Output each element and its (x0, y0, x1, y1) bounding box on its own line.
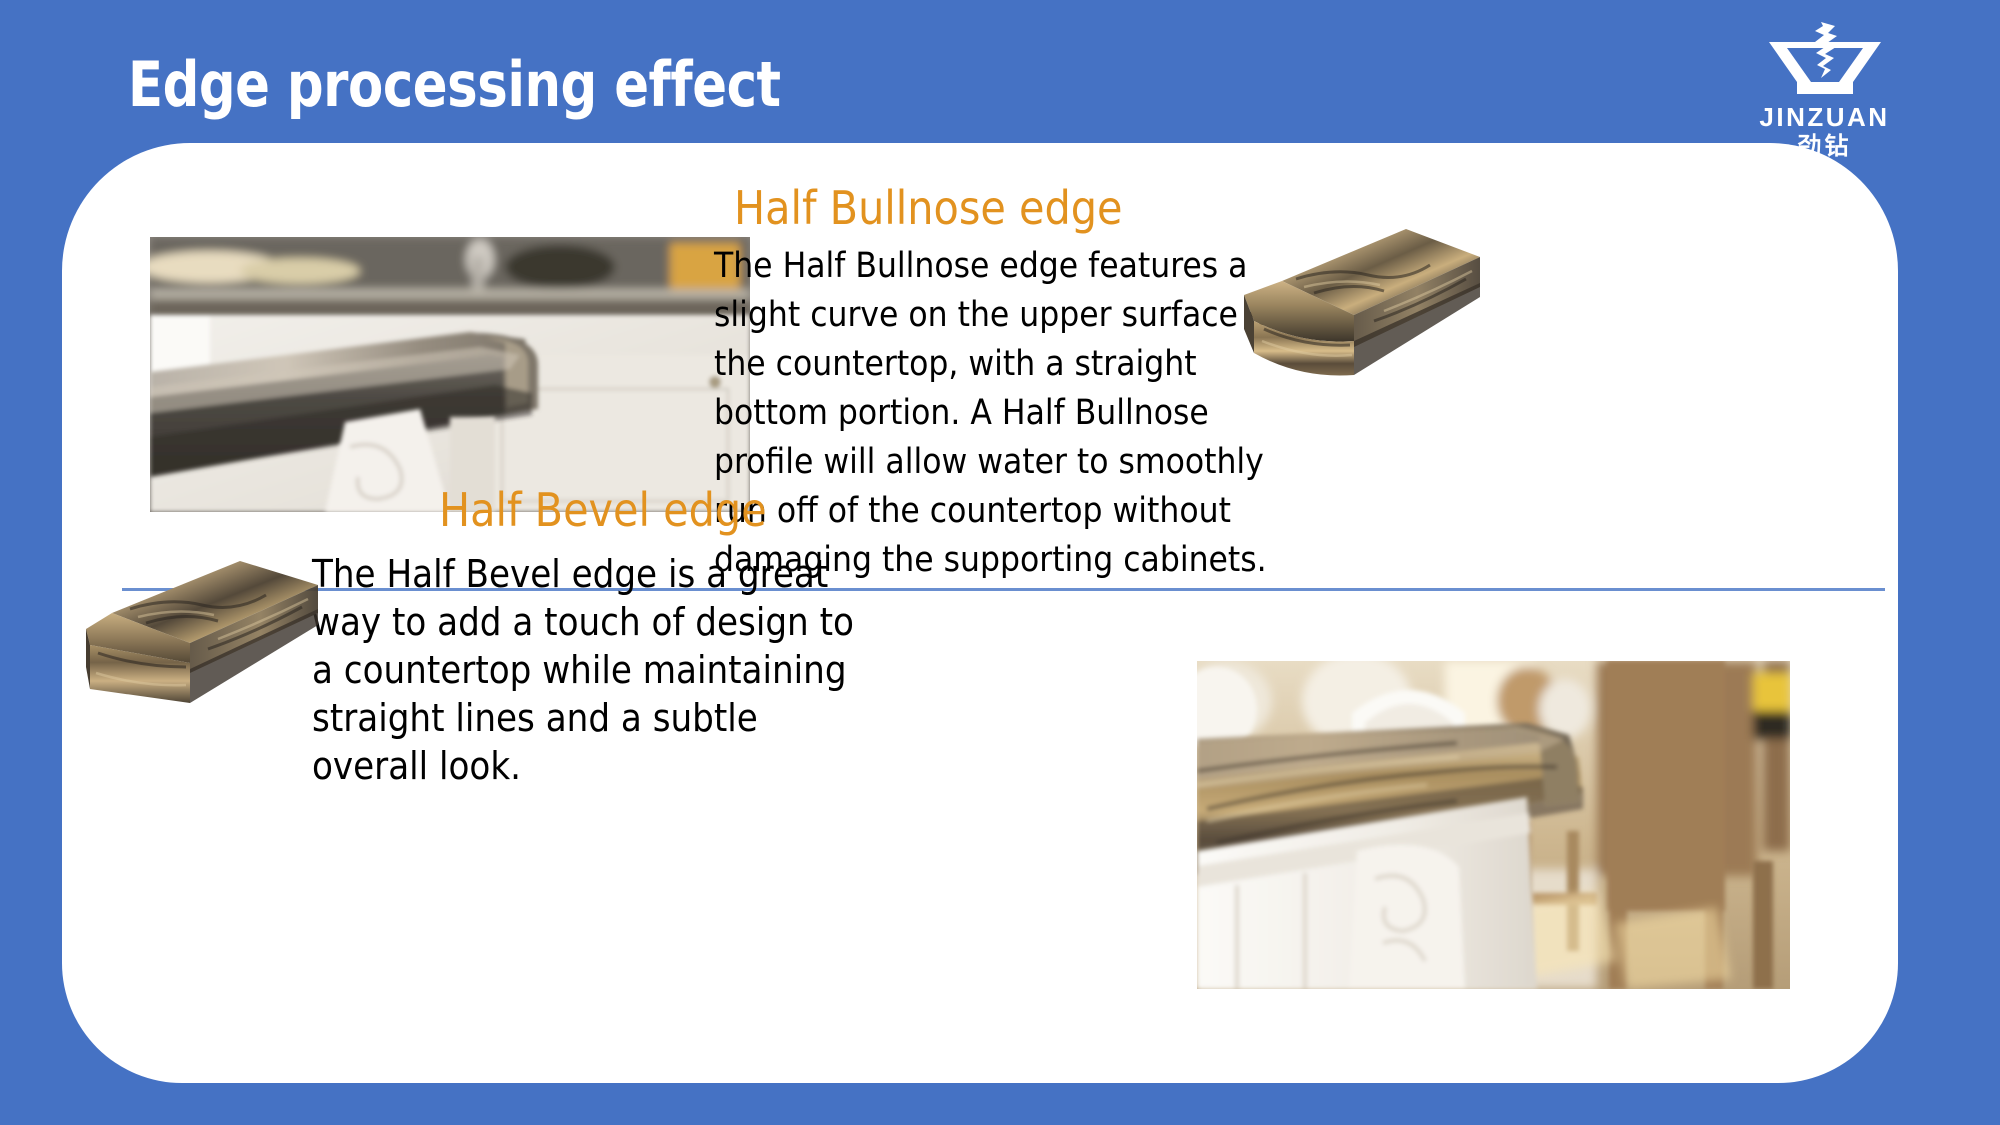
half-bullnose-heading: Half Bullnose edge (734, 181, 1123, 235)
bevel-stone-sample (72, 551, 322, 741)
bullnose-stone-sample (1234, 221, 1484, 411)
bevel-dining-photo (1197, 661, 1790, 989)
half-bevel-paragraph: The Half Bevel edge is a great way to ad… (312, 550, 872, 790)
jinzuan-drill-v-logo-icon (1765, 20, 1885, 102)
half-bullnose-paragraph: The Half Bullnose edge features a slight… (714, 242, 1314, 585)
content-panel: Half Bullnose edge The Half Bullnose edg… (62, 143, 1898, 1083)
bullnose-kitchen-photo (150, 237, 750, 512)
half-bevel-heading: Half Bevel edge (439, 483, 767, 537)
logo-wordmark: JINZUAN (1759, 104, 1889, 130)
company-logo: JINZUAN 劲钻 (1737, 20, 1912, 160)
page-title: Edge processing effect (128, 48, 781, 121)
